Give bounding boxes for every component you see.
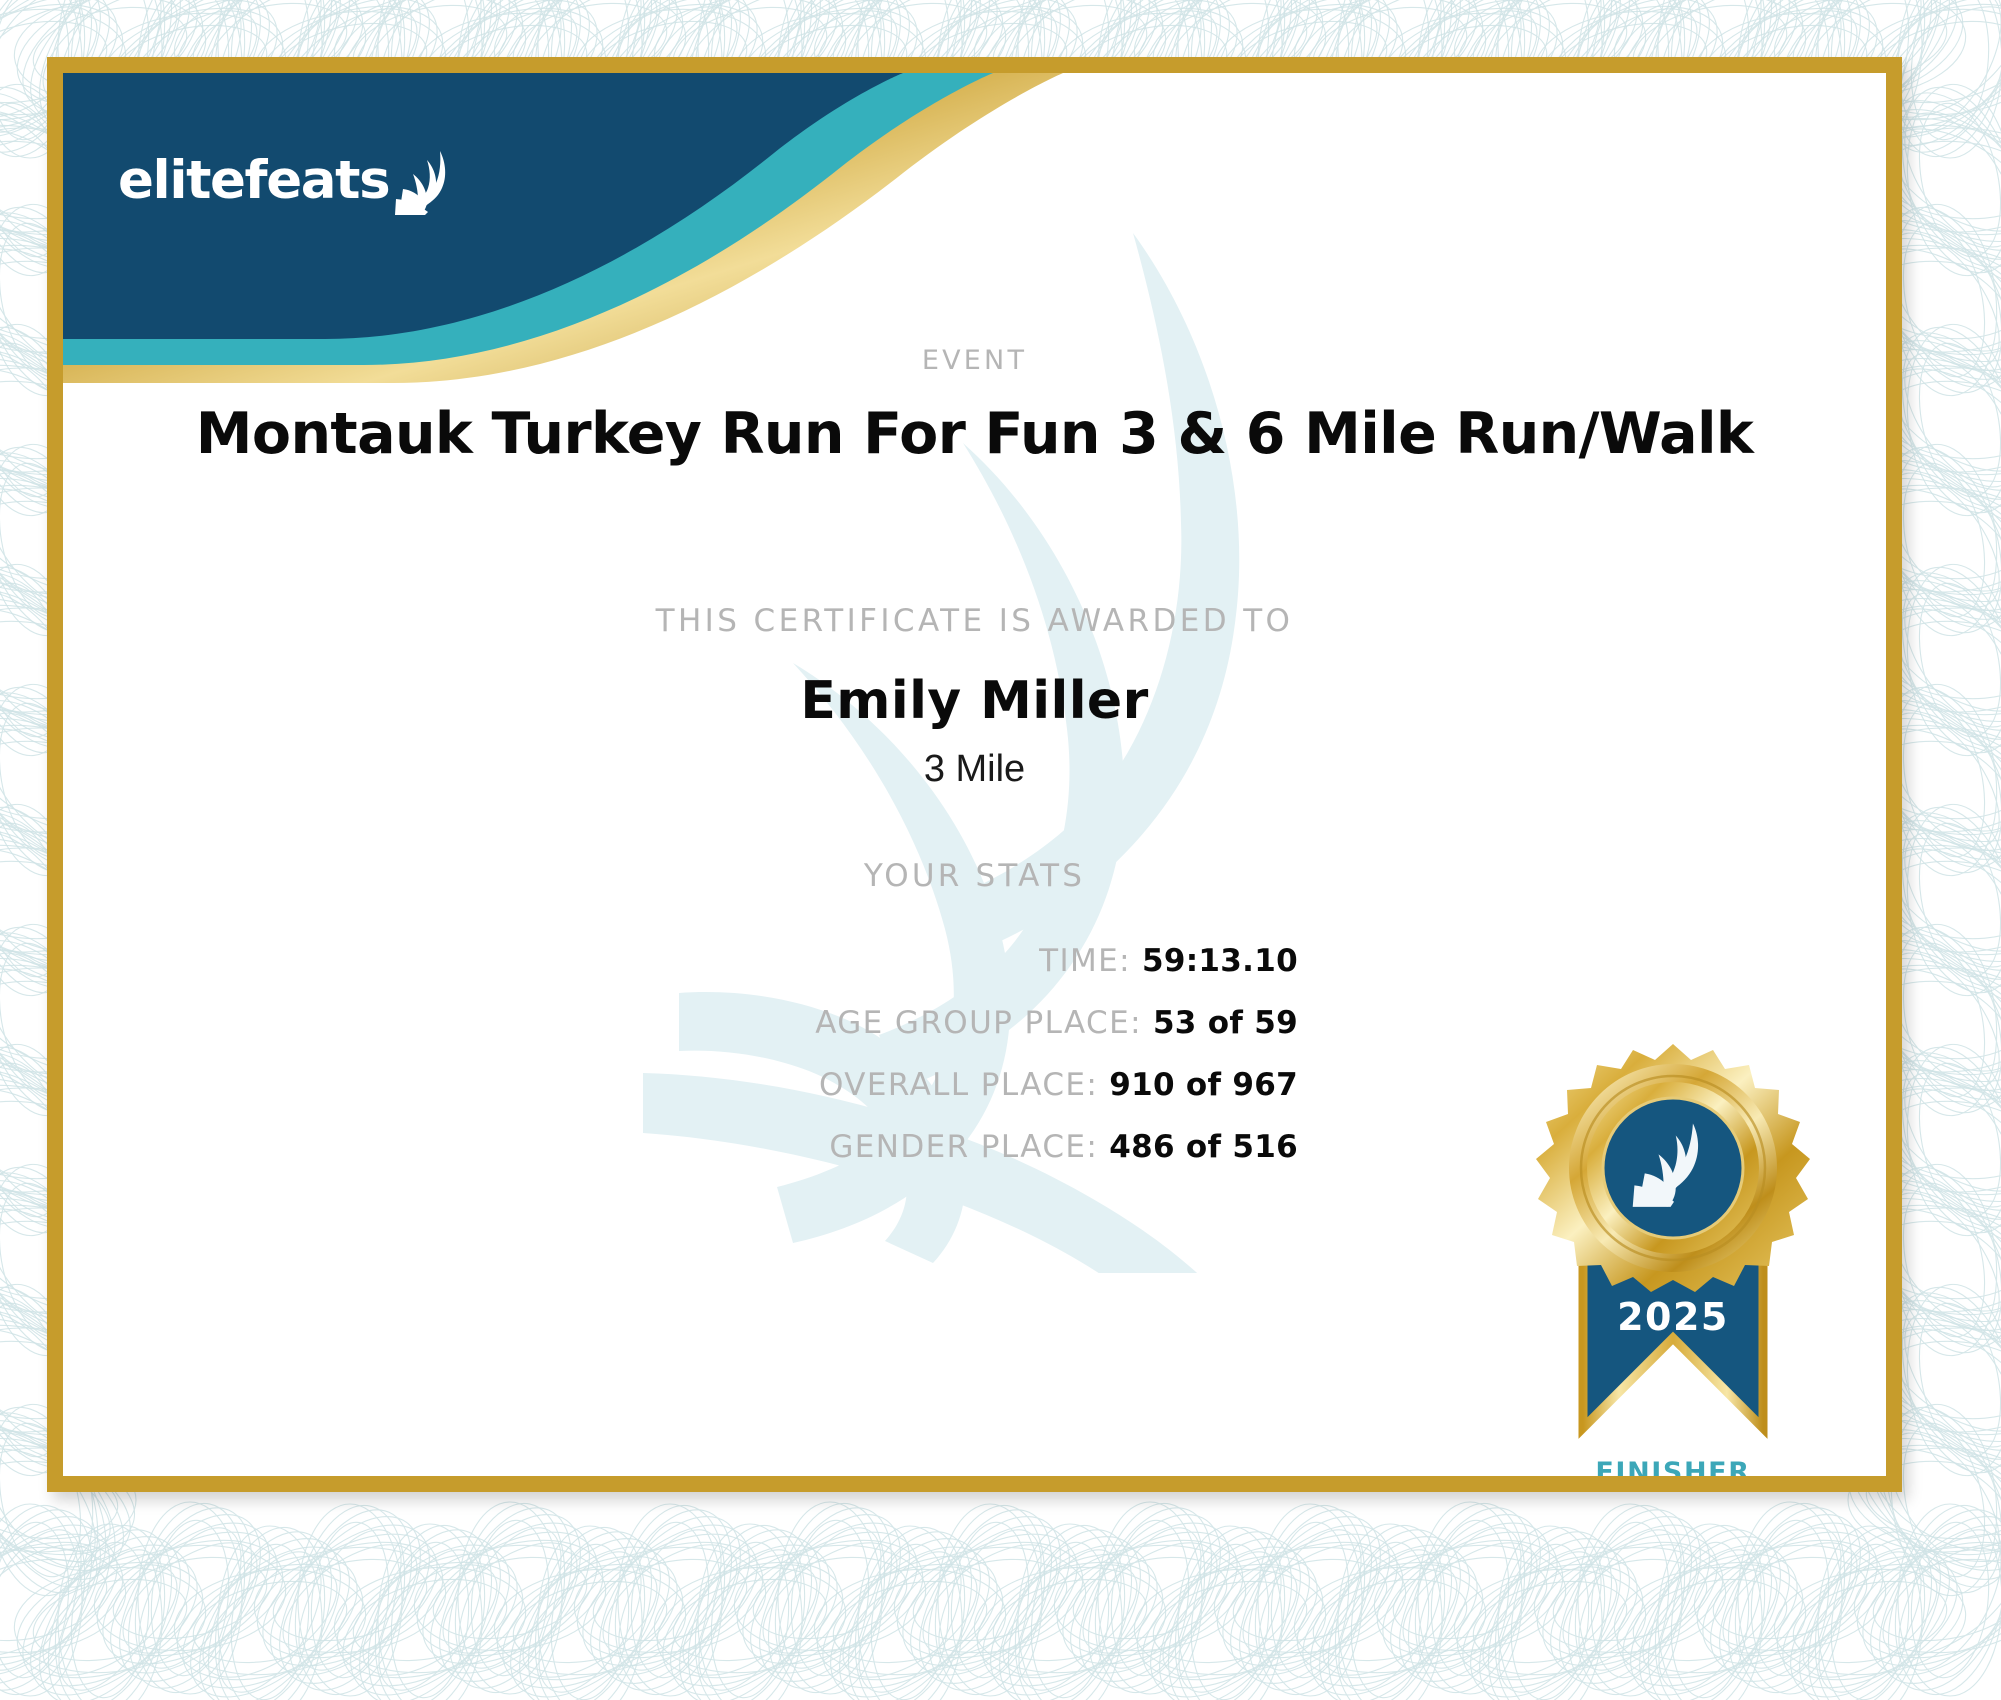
certificate-card: elitefeats EVENT Montauk Turkey Run For … [47,57,1902,1492]
stat-row-age-group-place: AGE GROUP PLACE: 53 of 59 [63,1005,1298,1041]
stat-label: GENDER PLACE: [829,1129,1098,1165]
stat-value: 59:13.10 [1142,943,1298,979]
medal-year: 2025 [1617,1295,1729,1339]
stat-value: 910 of 967 [1109,1067,1298,1103]
recipient-distance: 3 Mile [63,748,1886,791]
stat-row-gender-place: GENDER PLACE: 486 of 516 [63,1129,1298,1165]
stat-row-overall-place: OVERALL PLACE: 910 of 967 [63,1067,1298,1103]
caption-line-1: FINISHER [1513,1458,1833,1476]
elitefeats-logo: elitefeats [118,145,453,215]
awarded-to-label: THIS CERTIFICATE IS AWARDED TO [63,603,1886,639]
finisher-certificate-caption: FINISHER CERTIFICATE [1513,1458,1833,1476]
logo-wordmark: elitefeats [118,150,389,211]
event-label: EVENT [63,345,1886,376]
stat-value: 53 of 59 [1153,1005,1298,1041]
your-stats-label: YOUR STATS [63,858,1886,894]
event-title: Montauk Turkey Run For Fun 3 & 6 Mile Ru… [63,401,1886,467]
stat-label: OVERALL PLACE: [819,1067,1098,1103]
stat-label: AGE GROUP PLACE: [815,1005,1142,1041]
winged-foot-icon [395,145,453,215]
stat-label: TIME: [1039,943,1131,979]
stats-list: TIME: 59:13.10 AGE GROUP PLACE: 53 of 59… [63,943,1298,1191]
finisher-medal-seal: 2025 [1513,1038,1833,1458]
stat-row-time: TIME: 59:13.10 [63,943,1298,979]
stat-value: 486 of 516 [1109,1129,1298,1165]
recipient-name: Emily Miller [63,671,1886,731]
